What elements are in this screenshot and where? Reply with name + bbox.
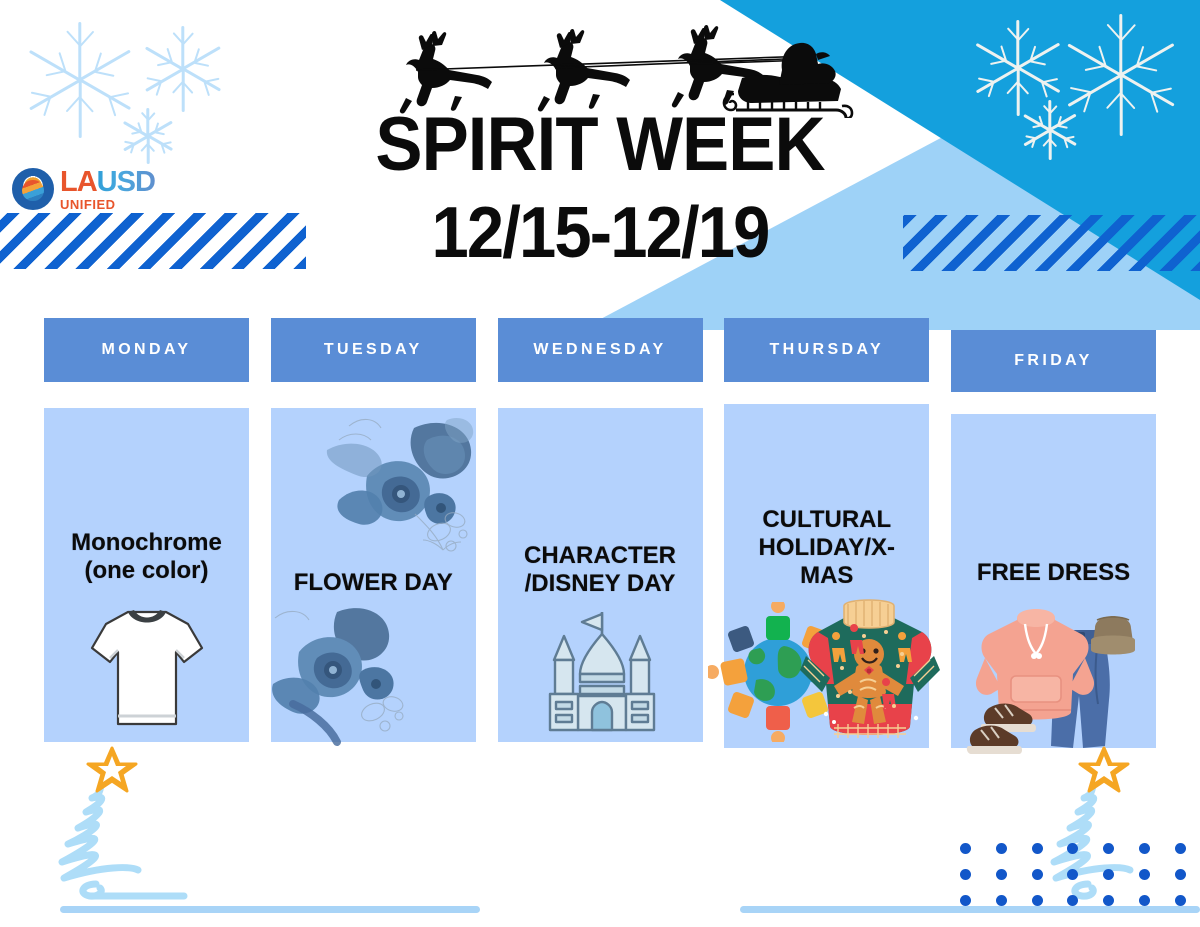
day-activity-wednesday: CHARACTER /DISNEY DAY bbox=[518, 542, 682, 599]
day-activity-friday: FREE DRESS bbox=[971, 559, 1136, 587]
page-title: SPIRIT WEEK bbox=[42, 108, 1158, 182]
day-header-label: TUESDAY bbox=[324, 341, 423, 359]
day-header-wednesday[interactable]: WEDNESDAY bbox=[498, 318, 703, 382]
day-column-thursday: THURSDAY bbox=[724, 318, 929, 748]
activity-line: HOLIDAY/X- bbox=[759, 534, 895, 562]
snowflake-icon bbox=[140, 26, 226, 112]
day-header-friday[interactable]: FRIDAY bbox=[951, 330, 1156, 392]
christmas-tree-scribble bbox=[34, 742, 194, 912]
day-column-monday: MONDAY Monochrome (one color) bbox=[44, 318, 249, 748]
day-header-monday[interactable]: MONDAY bbox=[44, 318, 249, 382]
horizontal-rule-left bbox=[60, 906, 480, 913]
date-range: 12/15-12/19 bbox=[42, 198, 1158, 269]
day-activity-monday: Monochrome (one color) bbox=[65, 529, 228, 586]
blue-floral-illustration bbox=[271, 608, 431, 748]
activity-line: Monochrome bbox=[71, 529, 222, 557]
activity-line: MAS bbox=[759, 562, 895, 590]
snowflake-icon bbox=[970, 20, 1066, 116]
day-cell-friday[interactable]: FREE DRESS bbox=[951, 414, 1156, 748]
activity-line: CULTURAL bbox=[759, 506, 895, 534]
poster-canvas: LAUSD UNIFIED SPIRIT WEEK 12/15-12/19 MO… bbox=[0, 0, 1200, 927]
day-header-thursday[interactable]: THURSDAY bbox=[724, 318, 929, 382]
day-header-tuesday[interactable]: TUESDAY bbox=[271, 318, 476, 382]
fairytale-castle-icon bbox=[542, 608, 662, 736]
day-column-wednesday: WEDNESDAY bbox=[498, 318, 703, 748]
day-header-label: MONDAY bbox=[101, 341, 191, 359]
activity-line: /DISNEY DAY bbox=[524, 570, 676, 598]
spirit-week-calendar: MONDAY Monochrome (one color) bbox=[0, 318, 1200, 748]
activity-line: FREE DRESS bbox=[977, 559, 1130, 587]
christmas-tree-scribble bbox=[1026, 742, 1186, 912]
dot-grid-pattern bbox=[948, 835, 1198, 913]
day-header-label: FRIDAY bbox=[1014, 352, 1093, 370]
white-tshirt-icon bbox=[88, 604, 206, 732]
horizontal-rule-right bbox=[740, 906, 1200, 913]
activity-line: FLOWER DAY bbox=[294, 569, 453, 597]
day-cell-monday[interactable]: Monochrome (one color) bbox=[44, 408, 249, 742]
activity-line: (one color) bbox=[71, 557, 222, 585]
day-cell-thursday[interactable]: CULTURAL HOLIDAY/X- MAS bbox=[724, 404, 929, 748]
day-activity-thursday: CULTURAL HOLIDAY/X- MAS bbox=[753, 506, 901, 591]
day-column-friday: FRIDAY bbox=[951, 318, 1156, 748]
christmas-sweater-icon bbox=[798, 596, 940, 748]
day-header-label: WEDNESDAY bbox=[533, 341, 666, 359]
day-activity-tuesday: FLOWER DAY bbox=[288, 569, 459, 597]
calendar-row: MONDAY Monochrome (one color) bbox=[0, 318, 1200, 748]
title-block: SPIRIT WEEK 12/15-12/19 bbox=[0, 108, 1200, 269]
casual-outfit-icon bbox=[965, 600, 1145, 756]
activity-line: CHARACTER bbox=[524, 542, 676, 570]
day-cell-tuesday[interactable]: FLOWER DAY bbox=[271, 408, 476, 742]
day-header-label: THURSDAY bbox=[769, 341, 884, 359]
day-cell-wednesday[interactable]: CHARACTER /DISNEY DAY bbox=[498, 408, 703, 742]
blue-floral-illustration bbox=[319, 410, 479, 570]
day-column-tuesday: TUESDAY bbox=[271, 318, 476, 748]
